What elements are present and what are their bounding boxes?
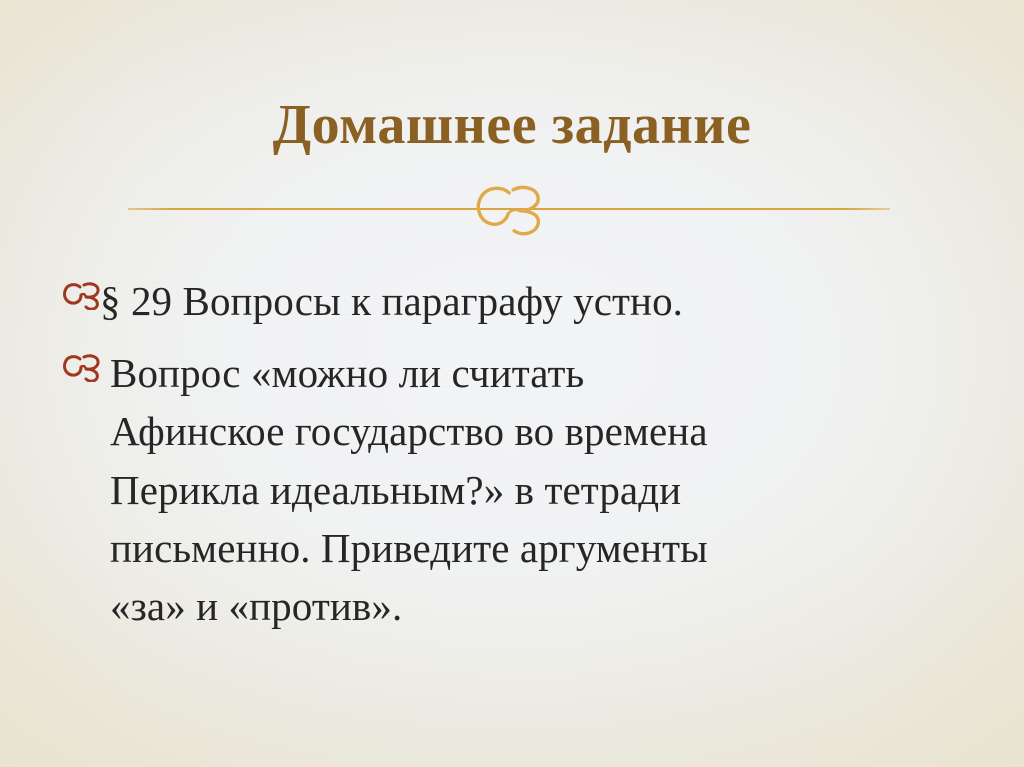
page-title: Домашнее задание <box>0 96 1024 155</box>
calligraphic-bullet-icon <box>62 352 110 382</box>
slide-content: Домашнее задание <box>0 0 1024 767</box>
homework-bullet-list: § 29 Вопросы к параграфу устно. Вопрос «… <box>62 272 962 635</box>
list-item: § 29 Вопросы к параграфу устно. <box>62 272 962 330</box>
list-item: Вопрос «можно ли считать Афинское госуда… <box>62 344 962 635</box>
title-divider <box>128 190 890 230</box>
list-item-label: Вопрос «можно ли считать Афинское госуда… <box>110 344 962 635</box>
list-item-label: § 29 Вопросы к параграфу устно. <box>100 272 962 330</box>
slide: Домашнее задание <box>0 0 1024 767</box>
title-block: Домашнее задание <box>0 96 1024 155</box>
calligraphic-flourish-icon <box>465 180 551 238</box>
